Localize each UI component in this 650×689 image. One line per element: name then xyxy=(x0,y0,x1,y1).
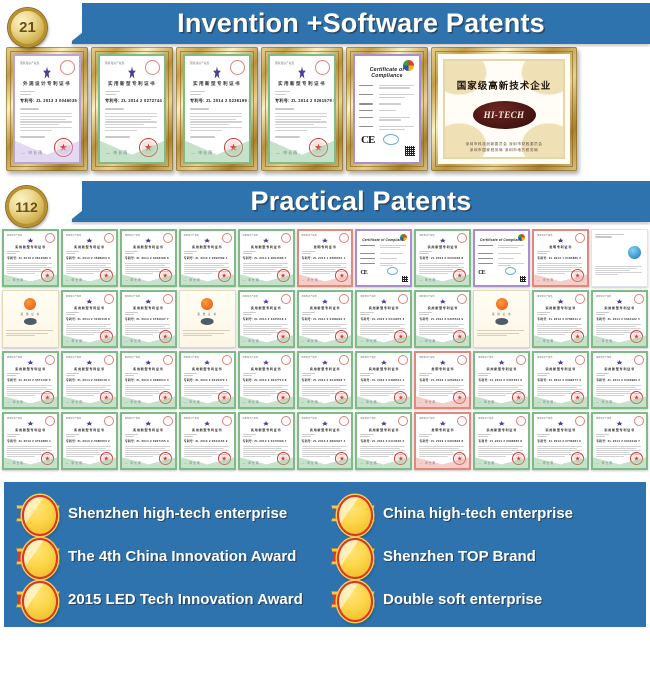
national-emblem-icon xyxy=(322,299,329,304)
stamp-circle-icon xyxy=(398,294,408,304)
honor-body-lines xyxy=(183,329,232,337)
cert-corner-decoration xyxy=(593,393,646,407)
cert-title: 实用新型专利证书 xyxy=(478,427,525,432)
patent-thumbnail[interactable]: 国家知识产权局实用新型专利证书专利号: ZL 2014 2 0125516 4—… xyxy=(238,290,295,348)
cert-number: 专利号: ZL 2014 2 0094586 7 xyxy=(243,256,290,260)
stamp-circle-icon xyxy=(281,355,291,365)
patent-thumbnail[interactable]: 国家知识产权局实用新型专利证书专利号: ZL 2013 2 0488511 4—… xyxy=(355,351,412,409)
award-label: 2015 LED Tech Innovation Award xyxy=(68,591,303,608)
national-emblem-icon xyxy=(27,238,34,243)
cert-number: 专利号: ZL 2014 2 0157231 9 xyxy=(478,378,525,382)
cert-corner-decoration xyxy=(240,271,293,285)
stamp-circle-icon xyxy=(163,233,173,243)
certificate-frame-hitech[interactable]: 国家级高新技术企业 HI-TECH 深圳市科技创新委员会 深圳市财政委员会 深圳… xyxy=(431,47,577,171)
stamp-circle-icon xyxy=(104,233,114,243)
medal-disc-icon xyxy=(337,581,373,622)
cert-title: 发明专利证书 xyxy=(419,366,466,371)
stamp-circle-icon xyxy=(339,355,349,365)
cn-patent-certificate: 国家知识产权局实用新型专利证书专利号: ZL 2013 2 0399277 3—… xyxy=(532,351,589,409)
award-item[interactable]: Double soft enterprise xyxy=(325,580,646,620)
cert-corner-decoration xyxy=(240,454,293,468)
medal-disc-icon xyxy=(22,538,58,579)
patent-thumbnail[interactable]: 国家知识产权局实用新型专利证书专利号: ZL 2013 2 0571102 5—… xyxy=(2,351,59,409)
cert-number: 专利号: ZL 2014 2 0212846 7 xyxy=(302,378,349,382)
stamp-circle-icon xyxy=(222,233,232,243)
stamp-circle-icon xyxy=(45,355,55,365)
patent-thumbnail[interactable]: 国家知识产权局实用新型专利证书专利号: ZL 2014 2 0049548 3—… xyxy=(61,351,118,409)
section-title-invention: Invention +Software Patents xyxy=(72,3,650,44)
qr-code-icon xyxy=(405,146,415,156)
patent-thumbnail[interactable]: 国家知识产权局实用新型专利证书专利号: ZL 2014 2 0094586 7—… xyxy=(238,229,295,287)
stamp-circle-icon xyxy=(516,416,526,426)
medal-icon xyxy=(18,494,58,534)
cert-corner-decoration xyxy=(475,454,528,468)
patent-thumbnail[interactable]: 国家知识产权局实用新型专利证书专利号: ZL 2013 2 0700281 6—… xyxy=(532,412,589,470)
award-label: Double soft enterprise xyxy=(383,591,542,608)
certificate-frame-ce[interactable]: Certificate of Compliance CE xyxy=(346,47,428,171)
certificate-frame[interactable]: 国家知识产权局 实用新型专利证书 专利号: ZL 2014 2 0272744 … xyxy=(91,47,173,171)
cert-corner-decoration xyxy=(299,393,352,407)
honor-certificate: 荣 誉 证 书 xyxy=(179,290,236,348)
cert-corner-decoration xyxy=(122,393,175,407)
national-emblem-icon xyxy=(86,421,93,426)
honor-body-lines xyxy=(6,329,55,337)
cert-title: 实用新型专利证书 xyxy=(243,244,290,249)
cert-number: 专利号: ZL 2013 2 0595582 1 xyxy=(184,256,231,260)
framed-certificate-row: 国家知识产权局 外观设计专利证书 专利号: ZL 2013 3 0046035 … xyxy=(0,47,650,178)
cert-number: 专利号: ZL 2013 2 0783611 2 xyxy=(537,317,584,321)
national-emblem-icon xyxy=(204,421,211,426)
national-emblem-icon xyxy=(204,360,211,365)
cert-corner-decoration xyxy=(122,454,175,468)
patent-thumbnail[interactable]: 国家知识产权局发明专利证书专利号: ZL 2013 1 0259341 6— 申… xyxy=(414,351,471,409)
cn-patent-certificate: 国家知识产权局实用新型专利证书专利号: ZL 2013 2 0700281 6—… xyxy=(532,412,589,470)
cn-patent-certificate: 国家知识产权局实用新型专利证书专利号: ZL 2014 2 0430983 2—… xyxy=(591,351,648,409)
tuv-round-logo-icon xyxy=(383,134,399,145)
cn-patent-certificate: 国家知识产权局实用新型专利证书专利号: ZL 2014 2 0361192 5—… xyxy=(591,290,648,348)
cn-patent-certificate: 国家知识产权局实用新型专利证书专利号: ZL 2014 2 0305516 9—… xyxy=(414,290,471,348)
cert-number: 专利号: ZL 2014 2 0361192 5 xyxy=(596,317,643,321)
cn-patent-certificate: 国家知识产权局发明专利证书专利号: ZL 2013 1 0304622 8— 申… xyxy=(414,412,471,470)
cert-number: 专利号: ZL 2014 2 0319472 1 xyxy=(184,378,231,382)
cn-patent-certificate: 国家知识产权局实用新型专利证书专利号: ZL 2014 2 0094586 7—… xyxy=(238,229,295,287)
stamp-circle-icon xyxy=(634,294,644,304)
stamp-circle-icon xyxy=(222,416,232,426)
stamp-circle-icon xyxy=(163,355,173,365)
cert-number: 专利号: ZL 2013 2 0730607 7 xyxy=(125,317,172,321)
cn-patent-certificate: 国家知识产权局实用新型专利证书专利号: ZL 2013 2 0080053 2—… xyxy=(61,412,118,470)
stamp-circle-icon xyxy=(457,233,467,243)
medal-disc-icon xyxy=(337,538,373,579)
patent-thumbnail[interactable]: 国家知识产权局实用新型专利证书专利号: ZL 2013 2 0731880 1—… xyxy=(2,412,59,470)
cert-number: 专利号: ZL 2013 2 0286613 0 xyxy=(125,378,172,382)
patent-thumbnail[interactable]: 国家知识产权局实用新型专利证书专利号: ZL 2013 2 0533432 8—… xyxy=(414,229,471,287)
cert-title: 实用新型专利证书 xyxy=(66,244,113,249)
cert-corner-decoration xyxy=(416,271,469,285)
cert-corner-decoration xyxy=(185,134,249,162)
orange-seal-icon xyxy=(24,298,36,310)
cert-title: 实用新型专利证书 xyxy=(537,427,584,432)
award-item[interactable]: China high-tech enterprise xyxy=(325,494,646,534)
cert-corner-decoration xyxy=(240,393,293,407)
cn-patent-certificate: 国家知识产权局实用新型专利证书专利号: ZL 2013 2 0628653 X—… xyxy=(61,229,118,287)
patent-thumbnail[interactable]: 国家知识产权局实用新型专利证书专利号: ZL 2013 2 0628653 X—… xyxy=(61,229,118,287)
patent-thumbnail[interactable]: 国家知识产权局实用新型专利证书专利号: ZL 2014 2 0305516 9—… xyxy=(414,290,471,348)
patent-thumbnail[interactable]: 荣 誉 证 书 xyxy=(2,290,59,348)
cert-title: 实用新型专利证书 xyxy=(537,366,584,371)
national-emblem-icon xyxy=(557,299,564,304)
cert-corner-decoration xyxy=(534,271,587,285)
national-emblem-icon xyxy=(381,360,388,365)
cert-title: 实用新型专利证书 xyxy=(419,305,466,310)
stamp-circle-icon xyxy=(398,355,408,365)
cert-number: 专利号: ZL 2013 2 0628653 X xyxy=(66,256,113,260)
emblem-mark-icon xyxy=(24,318,37,325)
national-emblem-icon xyxy=(263,299,270,304)
cert-corner-decoration xyxy=(100,134,164,162)
patent-thumbnail[interactable]: 国家知识产权局实用新型专利证书专利号: ZL 2014 2 0208198 6—… xyxy=(120,229,177,287)
cert-number: 专利号: ZL 2014 2 0305516 9 xyxy=(419,317,466,321)
patent-thumbnail[interactable]: 国家知识产权局实用新型专利证书专利号: ZL 2014 2 0110246 3—… xyxy=(355,412,412,470)
cert-title: 实用新型专利证书 xyxy=(360,366,407,371)
patent-thumbnail[interactable]: 国家知识产权局实用新型专利证书专利号: ZL 2014 2 0361192 5—… xyxy=(591,290,648,348)
cert-corner-decoration xyxy=(299,271,352,285)
cert-corner-decoration xyxy=(240,332,293,346)
patent-thumbnail[interactable]: 国家知识产权局实用新型专利证书专利号: ZL 2013 2 0531163 9—… xyxy=(179,412,236,470)
cn-patent-certificate: 国家知识产权局 外观设计专利证书 专利号: ZL 2013 3 0046035 … xyxy=(13,54,81,164)
medal-disc-icon xyxy=(22,581,58,622)
cert-title: 实用新型专利证书 xyxy=(7,366,54,371)
stamp-circle-icon xyxy=(339,233,349,243)
stamp-circle-icon xyxy=(45,233,55,243)
cert-title: 实用新型专利证书 xyxy=(66,366,113,371)
ce-certificate: Certificate of Compliance CE xyxy=(353,54,421,164)
cert-title: 实用新型专利证书 xyxy=(596,366,643,371)
cn-patent-certificate: 国家知识产权局实用新型专利证书专利号: ZL 2014 2 0110246 3—… xyxy=(355,412,412,470)
stamp-circle-icon xyxy=(575,416,585,426)
cn-patent-certificate: 国家知识产权局实用新型专利证书专利号: ZL 2013 2 0647710 8—… xyxy=(238,351,295,409)
patent-thumbnail[interactable]: 国家知识产权局实用新型专利证书专利号: ZL 2013 2 0595582 1—… xyxy=(179,229,236,287)
cert-title: 实用新型专利证书 xyxy=(66,305,113,310)
patent-thumbnail[interactable]: 荣 誉 证 书 xyxy=(473,290,530,348)
patent-thumbnail[interactable]: 国家知识产权局实用新型专利证书专利号: ZL 2013 2 0080053 2—… xyxy=(61,412,118,470)
certificate-frame[interactable]: 国家知识产权局 外观设计专利证书 专利号: ZL 2013 3 0046035 … xyxy=(6,47,88,171)
cert-number: 专利号: ZL 2013 1 0259341 6 xyxy=(419,378,466,382)
patent-thumbnail[interactable]: 国家知识产权局发明专利证书专利号: ZL 2013 1 0187880 2— 申… xyxy=(532,229,589,287)
ce-certificate: Certificate of ComplianceCE xyxy=(355,229,412,287)
national-emblem-icon xyxy=(498,360,505,365)
cert-corner-decoration xyxy=(299,332,352,346)
cert-corner-decoration xyxy=(122,332,175,346)
cert-corner-decoration xyxy=(534,454,587,468)
honor-body-lines xyxy=(477,329,526,337)
qr-code-icon xyxy=(520,276,526,282)
patent-thumbnail[interactable]: 国家知识产权局实用新型专利证书专利号: ZL 2014 2 0100418 8—… xyxy=(61,290,118,348)
patent-thumbnail[interactable]: 国家知识产权局实用新型专利证书专利号: ZL 2013 2 0822917 4—… xyxy=(297,412,354,470)
cert-title: 实用新型专利证书 xyxy=(478,366,525,371)
honor-certificate: 荣 誉 证 书 xyxy=(473,290,530,348)
cert-corner-decoration xyxy=(534,332,587,346)
stamp-circle-icon xyxy=(281,294,291,304)
cn-patent-certificate: 国家知识产权局实用新型专利证书专利号: ZL 2013 2 0822917 4—… xyxy=(297,412,354,470)
national-emblem-icon xyxy=(557,360,564,365)
cert-title: 外观设计专利证书 xyxy=(20,81,74,87)
cert-title: 实用新型专利证书 xyxy=(302,427,349,432)
patent-thumbnail[interactable]: 国家知识产权局实用新型专利证书专利号: ZL 2013 2 0647710 8—… xyxy=(238,351,295,409)
national-emblem-icon xyxy=(440,360,447,365)
award-label: Shenzhen TOP Brand xyxy=(383,548,536,565)
cert-title: 发明专利证书 xyxy=(302,244,349,249)
patent-thumbnail[interactable]: 国家知识产权局实用新型专利证书专利号: ZL 2013 2 0419975 3—… xyxy=(355,290,412,348)
national-emblem-icon xyxy=(616,421,623,426)
cert-title: 实用新型专利证书 xyxy=(360,427,407,432)
stamp-circle-icon xyxy=(634,355,644,365)
stamp-circle-icon xyxy=(163,294,173,304)
cert-title: 实用新型专利证书 xyxy=(596,427,643,432)
hitech-footer-line2: 深圳市国家税务局 深圳市地方税务局 xyxy=(446,147,562,153)
medal-icon xyxy=(333,580,373,620)
cert-corner-decoration xyxy=(416,393,469,407)
award-item[interactable]: The 4th China Innovation Award xyxy=(4,537,325,577)
medal-disc-icon xyxy=(22,495,58,536)
medal-disc-icon xyxy=(337,495,373,536)
badge-count-practical: 112 xyxy=(6,186,47,227)
cert-title: 实用新型专利证书 xyxy=(302,305,349,310)
orange-seal-icon xyxy=(201,298,213,310)
patent-thumbnail[interactable]: 国家知识产权局实用新型专利证书专利号: ZL 2013 2 0730607 7—… xyxy=(120,290,177,348)
cert-corner-decoration xyxy=(181,454,234,468)
award-label: China high-tech enterprise xyxy=(383,505,573,522)
patent-thumbnail[interactable]: 国家知识产权局发明专利证书专利号: ZL 2013 1 0304622 8— 申… xyxy=(414,412,471,470)
patent-grid-wrapper: 国家知识产权局实用新型专利证书专利号: ZL 2013 2 0614580 3—… xyxy=(0,225,650,476)
medal-icon xyxy=(333,494,373,534)
national-emblem-icon xyxy=(43,66,51,79)
cn-patent-certificate: 国家知识产权局实用新型专利证书专利号: ZL 2014 2 0188291 0—… xyxy=(297,290,354,348)
patent-thumbnail[interactable] xyxy=(591,229,648,287)
national-emblem-icon xyxy=(27,421,34,426)
stamp-circle-icon xyxy=(104,416,114,426)
cert-corner-decoration xyxy=(63,332,116,346)
national-emblem-icon xyxy=(557,238,564,243)
national-emblem-icon xyxy=(616,360,623,365)
ce-mark-icon: CE xyxy=(361,134,374,146)
patent-thumbnail[interactable]: Certificate of ComplianceCE xyxy=(473,229,530,287)
national-emblem-icon xyxy=(381,299,388,304)
stamp-circle-icon xyxy=(281,416,291,426)
cn-patent-certificate: 国家知识产权局发明专利证书专利号: ZL 2013 1 0259341 6— 申… xyxy=(414,351,471,409)
award-label: Shenzhen high-tech enterprise xyxy=(68,505,287,522)
cert-corner-decoration xyxy=(534,393,587,407)
cert-number: 专利号: ZL 2014 2 0236199 2 xyxy=(190,98,244,104)
national-emblem-icon xyxy=(213,66,221,79)
honor-title: 荣 誉 证 书 xyxy=(180,312,235,316)
national-emblem-icon xyxy=(381,421,388,426)
patent-thumbnail[interactable]: 国家知识产权局实用新型专利证书专利号: ZL 2014 2 0212846 7—… xyxy=(297,351,354,409)
cn-patent-certificate: 国家知识产权局实用新型专利证书专利号: ZL 2013 2 0286613 0—… xyxy=(120,351,177,409)
cert-corner-decoration xyxy=(4,454,57,468)
ce-mark-icon: CE xyxy=(478,270,484,276)
tuv-round-logo-icon xyxy=(387,267,398,275)
stamp-circle-icon xyxy=(575,294,585,304)
national-emblem-icon xyxy=(498,421,505,426)
stamp-circle-icon xyxy=(339,416,349,426)
cert-title: 实用新型专利证书 xyxy=(190,81,244,87)
cert-title: 实用新型专利证书 xyxy=(537,305,584,310)
cert-title: 实用新型专利证书 xyxy=(302,366,349,371)
national-emblem-icon xyxy=(145,299,152,304)
cert-title: 实用新型专利证书 xyxy=(275,81,329,87)
awards-panel: Shenzhen high-tech enterpriseChina high-… xyxy=(4,482,646,627)
patent-thumbnail[interactable]: 国家知识产权局实用新型专利证书专利号: ZL 2014 2 0341018 7—… xyxy=(591,412,648,470)
cn-patent-certificate: 国家知识产权局实用新型专利证书专利号: ZL 2014 2 0157231 9—… xyxy=(473,351,530,409)
stamp-circle-icon xyxy=(457,416,467,426)
patent-thumbnail[interactable]: 国家知识产权局实用新型专利证书专利号: ZL 2014 2 0173399 7—… xyxy=(238,412,295,470)
patent-grid: 国家知识产权局实用新型专利证书专利号: ZL 2013 2 0614580 3—… xyxy=(2,229,648,470)
patent-thumbnail[interactable]: 国家知识产权局实用新型专利证书专利号: ZL 2014 2 0096635 8—… xyxy=(473,412,530,470)
cn-patent-certificate: 国家知识产权局实用新型专利证书专利号: ZL 2014 2 0125516 4—… xyxy=(238,290,295,348)
medal-icon xyxy=(18,580,58,620)
stamp-circle-icon xyxy=(457,294,467,304)
cert-title: 实用新型专利证书 xyxy=(7,244,54,249)
cert-corner-decoration xyxy=(122,271,175,285)
cert-title: 实用新型专利证书 xyxy=(243,366,290,371)
stamp-circle-icon xyxy=(230,60,245,75)
patent-thumbnail[interactable]: 国家知识产权局实用新型专利证书专利号: ZL 2013 2 0399277 3—… xyxy=(532,351,589,409)
national-emblem-icon xyxy=(263,360,270,365)
cert-corner-decoration xyxy=(357,454,410,468)
honor-certificate: 荣 誉 证 书 xyxy=(2,290,59,348)
cert-number: 专利号: ZL 2013 2 0399277 3 xyxy=(537,378,584,382)
cert-corner-decoration xyxy=(357,393,410,407)
cert-number: 专利号: ZL 2013 2 0533432 8 xyxy=(419,256,466,260)
cert-title: 实用新型专利证书 xyxy=(184,427,231,432)
cert-corner-decoration xyxy=(299,454,352,468)
national-emblem-icon xyxy=(322,238,329,243)
cert-corner-decoration xyxy=(416,454,469,468)
cert-corner-decoration xyxy=(4,271,57,285)
cn-patent-certificate: 国家知识产权局实用新型专利证书专利号: ZL 2014 2 0173399 7—… xyxy=(238,412,295,470)
national-emblem-icon xyxy=(322,421,329,426)
patent-thumbnail[interactable]: 国家知识产权局实用新型专利证书专利号: ZL 2013 2 0286613 0—… xyxy=(120,351,177,409)
certificate-frame[interactable]: 国家知识产权局 实用新型专利证书 专利号: ZL 2014 2 0236199 … xyxy=(176,47,258,171)
copyright-body-lines xyxy=(595,264,644,276)
stamp-circle-icon xyxy=(575,233,585,243)
cert-number: 专利号: ZL 2013 1 0304622 8 xyxy=(419,439,466,443)
national-emblem-icon xyxy=(557,421,564,426)
badge-count-invention: 21 xyxy=(8,8,47,47)
cn-patent-certificate: 国家知识产权局实用新型专利证书专利号: ZL 2013 2 0783611 2—… xyxy=(532,290,589,348)
certificate-frame[interactable]: 国家知识产权局 实用新型专利证书 专利号: ZL 2014 2 0261579 … xyxy=(261,47,343,171)
cert-number: 专利号: ZL 2013 2 0531163 9 xyxy=(184,439,231,443)
cert-title: 实用新型专利证书 xyxy=(184,244,231,249)
cert-title: 实用新型专利证书 xyxy=(243,427,290,432)
national-emblem-icon xyxy=(440,421,447,426)
cn-patent-certificate: 国家知识产权局实用新型专利证书专利号: ZL 2013 2 0730607 7—… xyxy=(120,290,177,348)
patent-thumbnail[interactable]: 国家知识产权局实用新型专利证书专利号: ZL 2014 2 0267155 0—… xyxy=(120,412,177,470)
cert-corner-decoration xyxy=(181,271,234,285)
award-item[interactable]: 2015 LED Tech Innovation Award xyxy=(4,580,325,620)
cert-number: 专利号: ZL 2012 1 0366531 1 xyxy=(302,256,349,260)
cert-title: 实用新型专利证书 xyxy=(105,81,159,87)
cert-title: 实用新型专利证书 xyxy=(125,366,172,371)
cert-number: 专利号: ZL 2014 2 0272744 X xyxy=(105,98,159,104)
stamp-circle-icon xyxy=(457,355,467,365)
cert-number: 专利号: ZL 2013 2 0571102 5 xyxy=(7,378,54,382)
patent-thumbnail[interactable]: Certificate of ComplianceCE xyxy=(355,229,412,287)
cert-number: 专利号: ZL 2014 2 0267155 0 xyxy=(125,439,172,443)
cert-corner-decoration xyxy=(15,134,79,162)
national-emblem-icon xyxy=(440,238,447,243)
cert-title: 发明专利证书 xyxy=(419,427,466,432)
cert-number: 专利号: ZL 2013 2 0647710 8 xyxy=(243,378,290,382)
stamp-circle-icon xyxy=(516,355,526,365)
national-emblem-icon xyxy=(263,238,270,243)
cert-title: 实用新型专利证书 xyxy=(419,244,466,249)
patent-thumbnail[interactable]: 国家知识产权局实用新型专利证书专利号: ZL 2014 2 0430983 2—… xyxy=(591,351,648,409)
cn-patent-certificate: 国家知识产权局实用新型专利证书专利号: ZL 2013 2 0595582 1—… xyxy=(179,229,236,287)
cert-number: 专利号: ZL 2013 2 0614580 3 xyxy=(7,256,54,260)
cert-number: 专利号: ZL 2014 2 0096635 8 xyxy=(478,439,525,443)
cert-corner-decoration xyxy=(593,454,646,468)
copyright-header-lines xyxy=(595,233,644,239)
cert-number: 专利号: ZL 2013 2 0080053 2 xyxy=(66,439,113,443)
cn-patent-certificate: 国家知识产权局实用新型专利证书专利号: ZL 2013 2 0488511 4—… xyxy=(355,351,412,409)
section-header-practical: Practical Patents 112 xyxy=(0,178,650,225)
cert-title: 实用新型专利证书 xyxy=(360,305,407,310)
national-emblem-icon xyxy=(440,299,447,304)
emblem-mark-icon xyxy=(495,318,508,325)
national-emblem-icon xyxy=(145,360,152,365)
cert-number: 专利号: ZL 2014 2 0261579 8 xyxy=(275,98,329,104)
patent-thumbnail[interactable]: 荣 誉 证 书 xyxy=(179,290,236,348)
cert-number: 专利号: ZL 2014 2 0049548 3 xyxy=(66,378,113,382)
national-emblem-icon xyxy=(86,360,93,365)
patent-thumbnail[interactable]: 国家知识产权局发明专利证书专利号: ZL 2012 1 0366531 1— 申… xyxy=(297,229,354,287)
award-item[interactable]: Shenzhen TOP Brand xyxy=(325,537,646,577)
hitech-title: 国家级高新技术企业 xyxy=(446,78,562,92)
cert-title: 实用新型专利证书 xyxy=(125,427,172,432)
patent-thumbnail[interactable]: 国家知识产权局实用新型专利证书专利号: ZL 2013 2 0614580 3—… xyxy=(2,229,59,287)
cn-patent-certificate: 国家知识产权局实用新型专利证书专利号: ZL 2014 2 0319472 1—… xyxy=(179,351,236,409)
national-emblem-icon xyxy=(27,360,34,365)
stamp-circle-icon xyxy=(163,416,173,426)
award-item[interactable]: Shenzhen high-tech enterprise xyxy=(4,494,325,534)
cert-number: 专利号: ZL 2014 2 0430983 2 xyxy=(596,378,643,382)
cn-patent-certificate: 国家知识产权局实用新型专利证书专利号: ZL 2013 2 0531163 9—… xyxy=(179,412,236,470)
cn-patent-certificate: 国家知识产权局实用新型专利证书专利号: ZL 2014 2 0212846 7—… xyxy=(297,351,354,409)
stamp-circle-icon xyxy=(281,233,291,243)
cn-patent-certificate: 国家知识产权局发明专利证书专利号: ZL 2012 1 0366531 1— 申… xyxy=(297,229,354,287)
orange-seal-icon xyxy=(496,298,508,310)
cn-patent-certificate: 国家知识产权局实用新型专利证书专利号: ZL 2013 2 0614580 3—… xyxy=(2,229,59,287)
stamp-circle-icon xyxy=(315,60,330,75)
national-emblem-icon xyxy=(86,238,93,243)
national-emblem-icon xyxy=(145,238,152,243)
patent-thumbnail[interactable]: 国家知识产权局实用新型专利证书专利号: ZL 2014 2 0188291 0—… xyxy=(297,290,354,348)
cert-title: 实用新型专利证书 xyxy=(125,305,172,310)
cert-title: 实用新型专利证书 xyxy=(7,427,54,432)
cn-patent-certificate: 国家知识产权局 实用新型专利证书 专利号: ZL 2014 2 0261579 … xyxy=(268,54,336,164)
national-emblem-icon xyxy=(145,421,152,426)
cert-corner-decoration xyxy=(4,393,57,407)
hitech-badge: HI-TECH xyxy=(473,101,536,129)
cert-title: 实用新型专利证书 xyxy=(66,427,113,432)
patent-thumbnail[interactable]: 国家知识产权局实用新型专利证书专利号: ZL 2013 2 0783611 2—… xyxy=(532,290,589,348)
patent-thumbnail[interactable]: 国家知识产权局实用新型专利证书专利号: ZL 2014 2 0157231 9—… xyxy=(473,351,530,409)
national-emblem-icon xyxy=(263,421,270,426)
stamp-circle-icon xyxy=(634,416,644,426)
patent-thumbnail[interactable]: 国家知识产权局实用新型专利证书专利号: ZL 2014 2 0319472 1—… xyxy=(179,351,236,409)
